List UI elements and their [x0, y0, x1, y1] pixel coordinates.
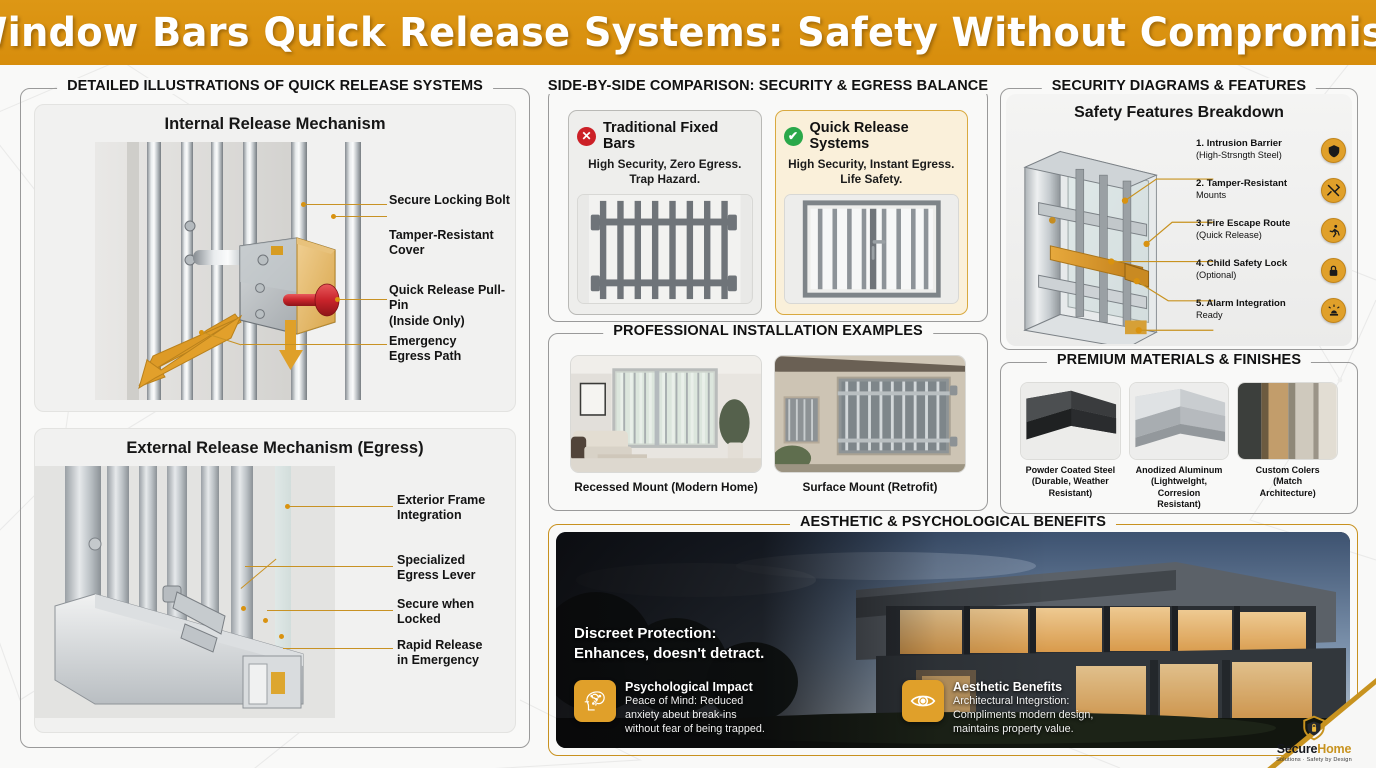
- safety-feature-row[interactable]: 3. Fire Escape Route (Quick Release): [1196, 218, 1346, 258]
- material-item-anodized-aluminum[interactable]: Anodized Aluminum (Lightwelght, Corresio…: [1129, 382, 1230, 510]
- section-aesthetic-psychological-benefits: AESTHETIC & PSYCHOLOGICAL BENEFITS: [548, 524, 1358, 756]
- comparison-subtitle-traditional: High Security, Zero Egress. Trap Hazard.: [577, 157, 753, 187]
- security-heading: Safety Features Breakdown: [1006, 94, 1352, 122]
- security-card: Safety Features Breakdown: [1006, 94, 1352, 346]
- installation-caption-surface: Surface Mount (Retrofit): [774, 480, 966, 494]
- callout-label-egress-path: Emergency Egress Path: [389, 334, 461, 365]
- safety-feature-row[interactable]: 4. Child Safety Lock (Optional): [1196, 258, 1346, 298]
- page-title: Window Bars Quick Release Systems: Safet…: [0, 10, 1376, 56]
- callout-dot-e4: [279, 634, 284, 639]
- logo-tagline: Solutions · Safety by Design: [1258, 757, 1370, 763]
- section-title-comparison: SIDE-BY-SIDE COMPARISON: SECURITY & EGRE…: [538, 78, 998, 94]
- section-title-security: SECURITY DIAGRAMS & FEATURES: [1042, 78, 1316, 94]
- cross-circle-icon: ✕: [577, 127, 596, 146]
- tools-icon: [1321, 178, 1346, 203]
- shield-icon: [1321, 138, 1346, 163]
- callout-line-2: [335, 216, 387, 217]
- banner-lead-text: Discreet Protection: Enhances, doesn't d…: [574, 624, 764, 663]
- section-title-materials: PREMIUM MATERIALS & FINISHES: [1047, 352, 1311, 368]
- safety-feature-num: 2.: [1196, 178, 1204, 189]
- comparison-title-traditional: Traditional Fixed Bars: [603, 120, 753, 152]
- material-item-powder-coated-steel[interactable]: Powder Coated Steel (Durable, Weather Re…: [1020, 382, 1121, 510]
- safety-feature-title: Alarm Integration: [1206, 298, 1285, 309]
- benefit-psychological-impact[interactable]: Psychological Impact Peace of Mind: Redu…: [574, 680, 874, 736]
- safety-feature-row[interactable]: 5. Alarm Integration Ready: [1196, 298, 1346, 338]
- logo-wordmark: SecureHome: [1258, 742, 1370, 756]
- safety-feature-num: 1.: [1196, 138, 1204, 149]
- benefit-text-psychological: Psychological Impact Peace of Mind: Redu…: [625, 680, 765, 736]
- installation-item-recessed[interactable]: Recessed Mount (Modern Home): [570, 355, 762, 494]
- callout-dot-e3: [263, 618, 268, 623]
- benefit-body-aesthetic: Architectural Integrstion: Compliments m…: [953, 694, 1093, 736]
- comparison-title-quick-release: Quick Release Systems: [810, 120, 960, 152]
- logo-name-home: Home: [1317, 742, 1351, 756]
- benefit-title-aesthetic: Aesthetic Benefits: [953, 680, 1093, 694]
- callout-line-1: [303, 204, 387, 205]
- section-installation-examples: PROFESSIONAL INSTALLATION EXAMPLES: [548, 333, 988, 511]
- card-heading-internal: Internal Release Mechanism: [35, 105, 515, 134]
- safety-features-list: 1. Intrusion Barrier (High-Strsngth Stee…: [1196, 138, 1346, 338]
- infographic-page: Window Bars Quick Release Systems: Safet…: [0, 0, 1376, 768]
- comparison-row: ✕ Traditional Fixed Bars High Security, …: [560, 104, 976, 315]
- card-heading-external: External Release Mechanism (Egress): [35, 429, 515, 458]
- swatch-brushed-aluminum: [1129, 382, 1230, 460]
- safety-feature-text: 4. Child Safety Lock (Optional): [1196, 258, 1316, 281]
- safety-feature-num: 3.: [1196, 218, 1204, 229]
- alarm-light-icon: [1321, 298, 1346, 323]
- benefit-title-psychological: Psychological Impact: [625, 680, 765, 694]
- comparison-subtitle-quick-release: High Security, Instant Egress. Life Safe…: [784, 157, 960, 187]
- external-mechanism-illustration: Exterior Frame Integration Specialized E…: [35, 466, 515, 727]
- swatch-multi-color: [1237, 382, 1338, 460]
- callout-line-4b: [241, 344, 387, 345]
- safety-feature-sub: Mounts: [1196, 190, 1316, 201]
- material-caption-custom-colors: Custom Colers (Match Architecture): [1237, 465, 1338, 499]
- image-quick-release-system: [784, 194, 960, 304]
- callout-dot-e2: [241, 606, 246, 611]
- safety-feature-text: 1. Intrusion Barrier (High-Strsngth Stee…: [1196, 138, 1316, 161]
- safety-feature-sub: (Optional): [1196, 270, 1316, 281]
- callout-label-locking-bolt: Secure Locking Bolt: [389, 193, 510, 208]
- materials-row: Powder Coated Steel (Durable, Weather Re…: [1012, 378, 1346, 510]
- swatch-dark-steel: [1020, 382, 1121, 460]
- comparison-card-quick-release[interactable]: ✔ Quick Release Systems High Security, I…: [775, 110, 969, 315]
- safety-feature-num: 5.: [1196, 298, 1204, 309]
- callout-label-secure-locked: Secure when Locked: [397, 597, 474, 628]
- installation-item-surface[interactable]: Surface Mount (Retrofit): [774, 355, 966, 494]
- safety-feature-title: Fire Escape Route: [1207, 218, 1291, 229]
- comparison-head-quick-release: ✔ Quick Release Systems: [784, 120, 960, 152]
- section-title-illustrations: DETAILED ILLUSTRATIONS OF QUICK RELEASE …: [57, 78, 493, 94]
- comparison-card-traditional[interactable]: ✕ Traditional Fixed Bars High Security, …: [568, 110, 762, 315]
- safety-feature-text: 3. Fire Escape Route (Quick Release): [1196, 218, 1316, 241]
- safety-feature-text: 5. Alarm Integration Ready: [1196, 298, 1316, 321]
- logo-content: SecureHome Solutions · Safety by Design: [1258, 715, 1370, 763]
- benefit-text-aesthetic: Aesthetic Benefits Architectural Integrs…: [953, 680, 1093, 736]
- internal-mechanism-illustration: Secure Locking Bolt Tamper-Resistant Cov…: [35, 142, 515, 406]
- section-detailed-illustrations: DETAILED ILLUSTRATIONS OF QUICK RELEASE …: [20, 88, 530, 748]
- material-item-custom-colors[interactable]: Custom Colers (Match Architecture): [1237, 382, 1338, 510]
- section-premium-materials: PREMIUM MATERIALS & FINISHES Powder Coat…: [1000, 362, 1358, 514]
- comparison-head-traditional: ✕ Traditional Fixed Bars: [577, 120, 753, 152]
- callout-line-3: [339, 299, 387, 300]
- callout-label-pull-pin: Quick Release Pull-Pin (Inside Only): [389, 283, 515, 329]
- safety-feature-text: 2. Tamper-Resistant Mounts: [1196, 178, 1316, 201]
- brand-logo: SecureHome Solutions · Safety by Design: [1240, 678, 1376, 768]
- card-internal-release: Internal Release Mechanism: [34, 104, 516, 412]
- benefit-aesthetic[interactable]: Aesthetic Benefits Architectural Integrs…: [902, 680, 1202, 736]
- photo-surface-mount-exterior: [774, 355, 966, 473]
- material-caption-aluminum: Anodized Aluminum (Lightwelght, Corresio…: [1129, 465, 1230, 510]
- benefit-body-psychological: Peace of Mind: Reduced anxiety abeut bre…: [625, 694, 765, 736]
- logo-name-secure: Secure: [1277, 742, 1318, 756]
- installation-caption-recessed: Recessed Mount (Modern Home): [570, 480, 762, 494]
- photo-recessed-mount-interior: [570, 355, 762, 473]
- eye-icon: [902, 680, 944, 722]
- callout-label-tamper-cover: Tamper-Resistant Cover: [389, 228, 494, 259]
- safety-feature-row[interactable]: 2. Tamper-Resistant Mounts: [1196, 178, 1346, 218]
- shield-lock-icon: [1301, 715, 1327, 741]
- safety-feature-sub: (High-Strsngth Steel): [1196, 150, 1316, 161]
- installation-row: Recessed Mount (Modern Home): [560, 351, 976, 494]
- callout-line-e3: [267, 610, 393, 611]
- safety-feature-row[interactable]: 1. Intrusion Barrier (High-Strsngth Stee…: [1196, 138, 1346, 178]
- safety-feature-sub: (Quick Release): [1196, 230, 1316, 241]
- material-caption-steel: Powder Coated Steel (Durable, Weather Re…: [1020, 465, 1121, 499]
- safety-feature-title: Child Safety Lock: [1207, 258, 1288, 269]
- callout-line-e4: [283, 648, 393, 649]
- callout-line-e1: [289, 506, 393, 507]
- card-external-release: External Release Mechanism (Egress): [34, 428, 516, 733]
- callout-label-exterior-frame: Exterior Frame Integration: [397, 493, 485, 524]
- brain-head-icon: [574, 680, 616, 722]
- section-title-installation: PROFESSIONAL INSTALLATION EXAMPLES: [603, 323, 933, 339]
- image-traditional-fixed-bars: [577, 194, 753, 304]
- section-title-benefits: AESTHETIC & PSYCHOLOGICAL BENEFITS: [790, 514, 1116, 530]
- page-header-bar: Window Bars Quick Release Systems: Safet…: [0, 0, 1376, 65]
- callout-label-egress-lever: Specialized Egress Lever: [397, 553, 476, 584]
- padlock-icon: [1321, 258, 1346, 283]
- check-circle-icon: ✔: [784, 127, 803, 146]
- section-security-diagrams: SECURITY DIAGRAMS & FEATURES Safety Feat…: [1000, 88, 1358, 350]
- benefits-row: Psychological Impact Peace of Mind: Redu…: [574, 680, 1334, 736]
- callout-label-rapid-release: Rapid Release in Emergency: [397, 638, 482, 669]
- safety-feature-title: Tamper-Resistant: [1207, 178, 1287, 189]
- running-person-icon: [1321, 218, 1346, 243]
- safety-feature-num: 4.: [1196, 258, 1204, 269]
- safety-feature-title: Intrusion Barrier: [1207, 138, 1282, 149]
- benefits-banner: Discreet Protection: Enhances, doesn't d…: [556, 532, 1350, 748]
- section-side-by-side-comparison: SIDE-BY-SIDE COMPARISON: SECURITY & EGRE…: [548, 88, 988, 322]
- banner-lead-text-wrap: Discreet Protection: Enhances, doesn't d…: [574, 624, 764, 663]
- safety-feature-sub: Ready: [1196, 310, 1316, 321]
